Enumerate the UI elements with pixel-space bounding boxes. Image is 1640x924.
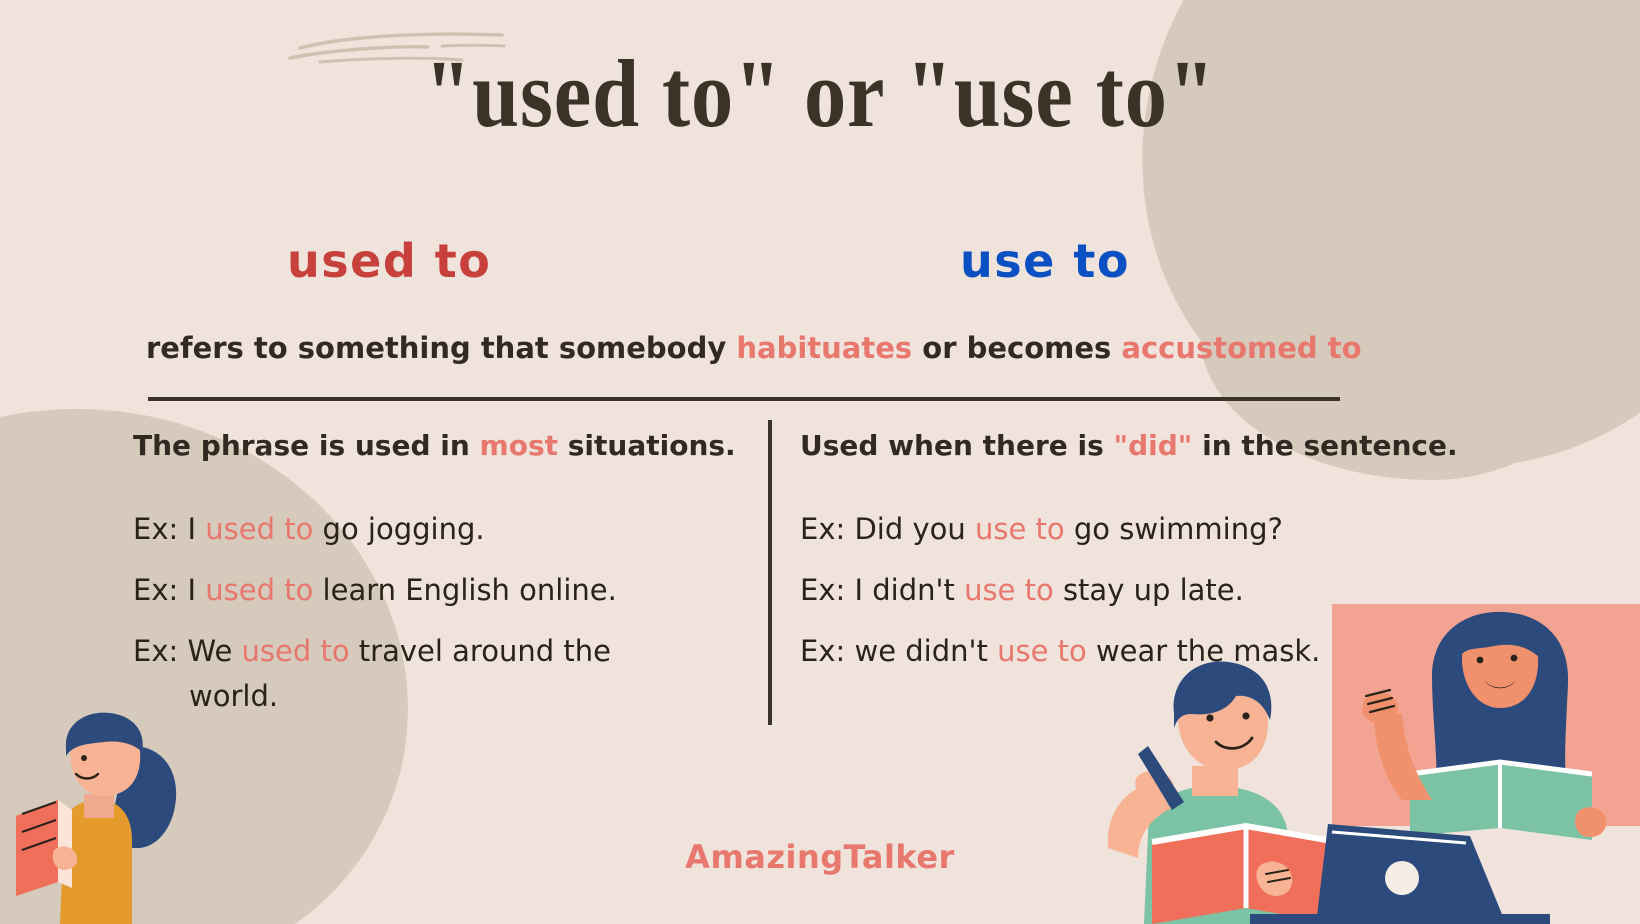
page-title: "used to" or "use to" [98,46,1541,142]
infographic-poster: "used to" or "use to" used to use to ref… [0,0,1640,924]
list-item: Ex: I used to go jogging. [133,507,753,552]
example-suffix: travel around the [350,634,611,668]
left-subheading-highlight: most [480,429,558,462]
definition-highlight-habituates: habituates [736,331,912,365]
heading-used-to: used to [287,234,491,288]
girl-reading-book-illustration [10,700,220,924]
example-prefix: Ex: We [133,634,242,668]
horizontal-divider [148,397,1340,401]
example-highlight: use to [964,573,1054,607]
heading-use-to: use to [960,234,1130,288]
example-prefix: Ex: we didn't [800,634,997,668]
left-subheading: The phrase is used in most situations. [133,428,753,463]
example-suffix: go jogging. [313,512,484,546]
example-prefix: Ex: Did you [800,512,975,546]
definition-highlight-accustomed-to: accustomed to [1121,331,1361,365]
right-subheading-highlight: "did" [1114,429,1193,462]
vertical-divider [768,420,772,725]
definition-line: refers to something that somebody habitu… [146,331,1342,366]
example-prefix: Ex: I didn't [800,573,964,607]
example-highlight: used to [205,512,313,546]
left-subheading-part1: The phrase is used in [133,429,480,462]
column-used-to: The phrase is used in most situations. E… [133,428,753,735]
list-item: Ex: Did you use to go swimming? [800,507,1420,552]
example-highlight: used to [242,634,350,668]
example-suffix: go swimming? [1065,512,1283,546]
left-subheading-part2: situations. [558,429,736,462]
right-subheading-part2: in the sentence. [1192,429,1457,462]
example-suffix: learn English online. [313,573,617,607]
right-subheading: Used when there is "did" in the sentence… [800,428,1420,463]
list-item: Ex: I used to learn English online. [133,568,753,613]
definition-part1: refers to something that somebody [146,331,736,365]
brand-logo: AmazingTalker [0,838,1640,876]
example-prefix: Ex: I [133,512,205,546]
definition-part2: or becomes [912,331,1121,365]
example-highlight: use to [975,512,1065,546]
example-highlight: use to [997,634,1087,668]
example-highlight: used to [205,573,313,607]
right-subheading-part1: Used when there is [800,429,1114,462]
list-item: Ex: We used to travel around theworld. [133,629,753,719]
example-prefix: Ex: I [133,573,205,607]
